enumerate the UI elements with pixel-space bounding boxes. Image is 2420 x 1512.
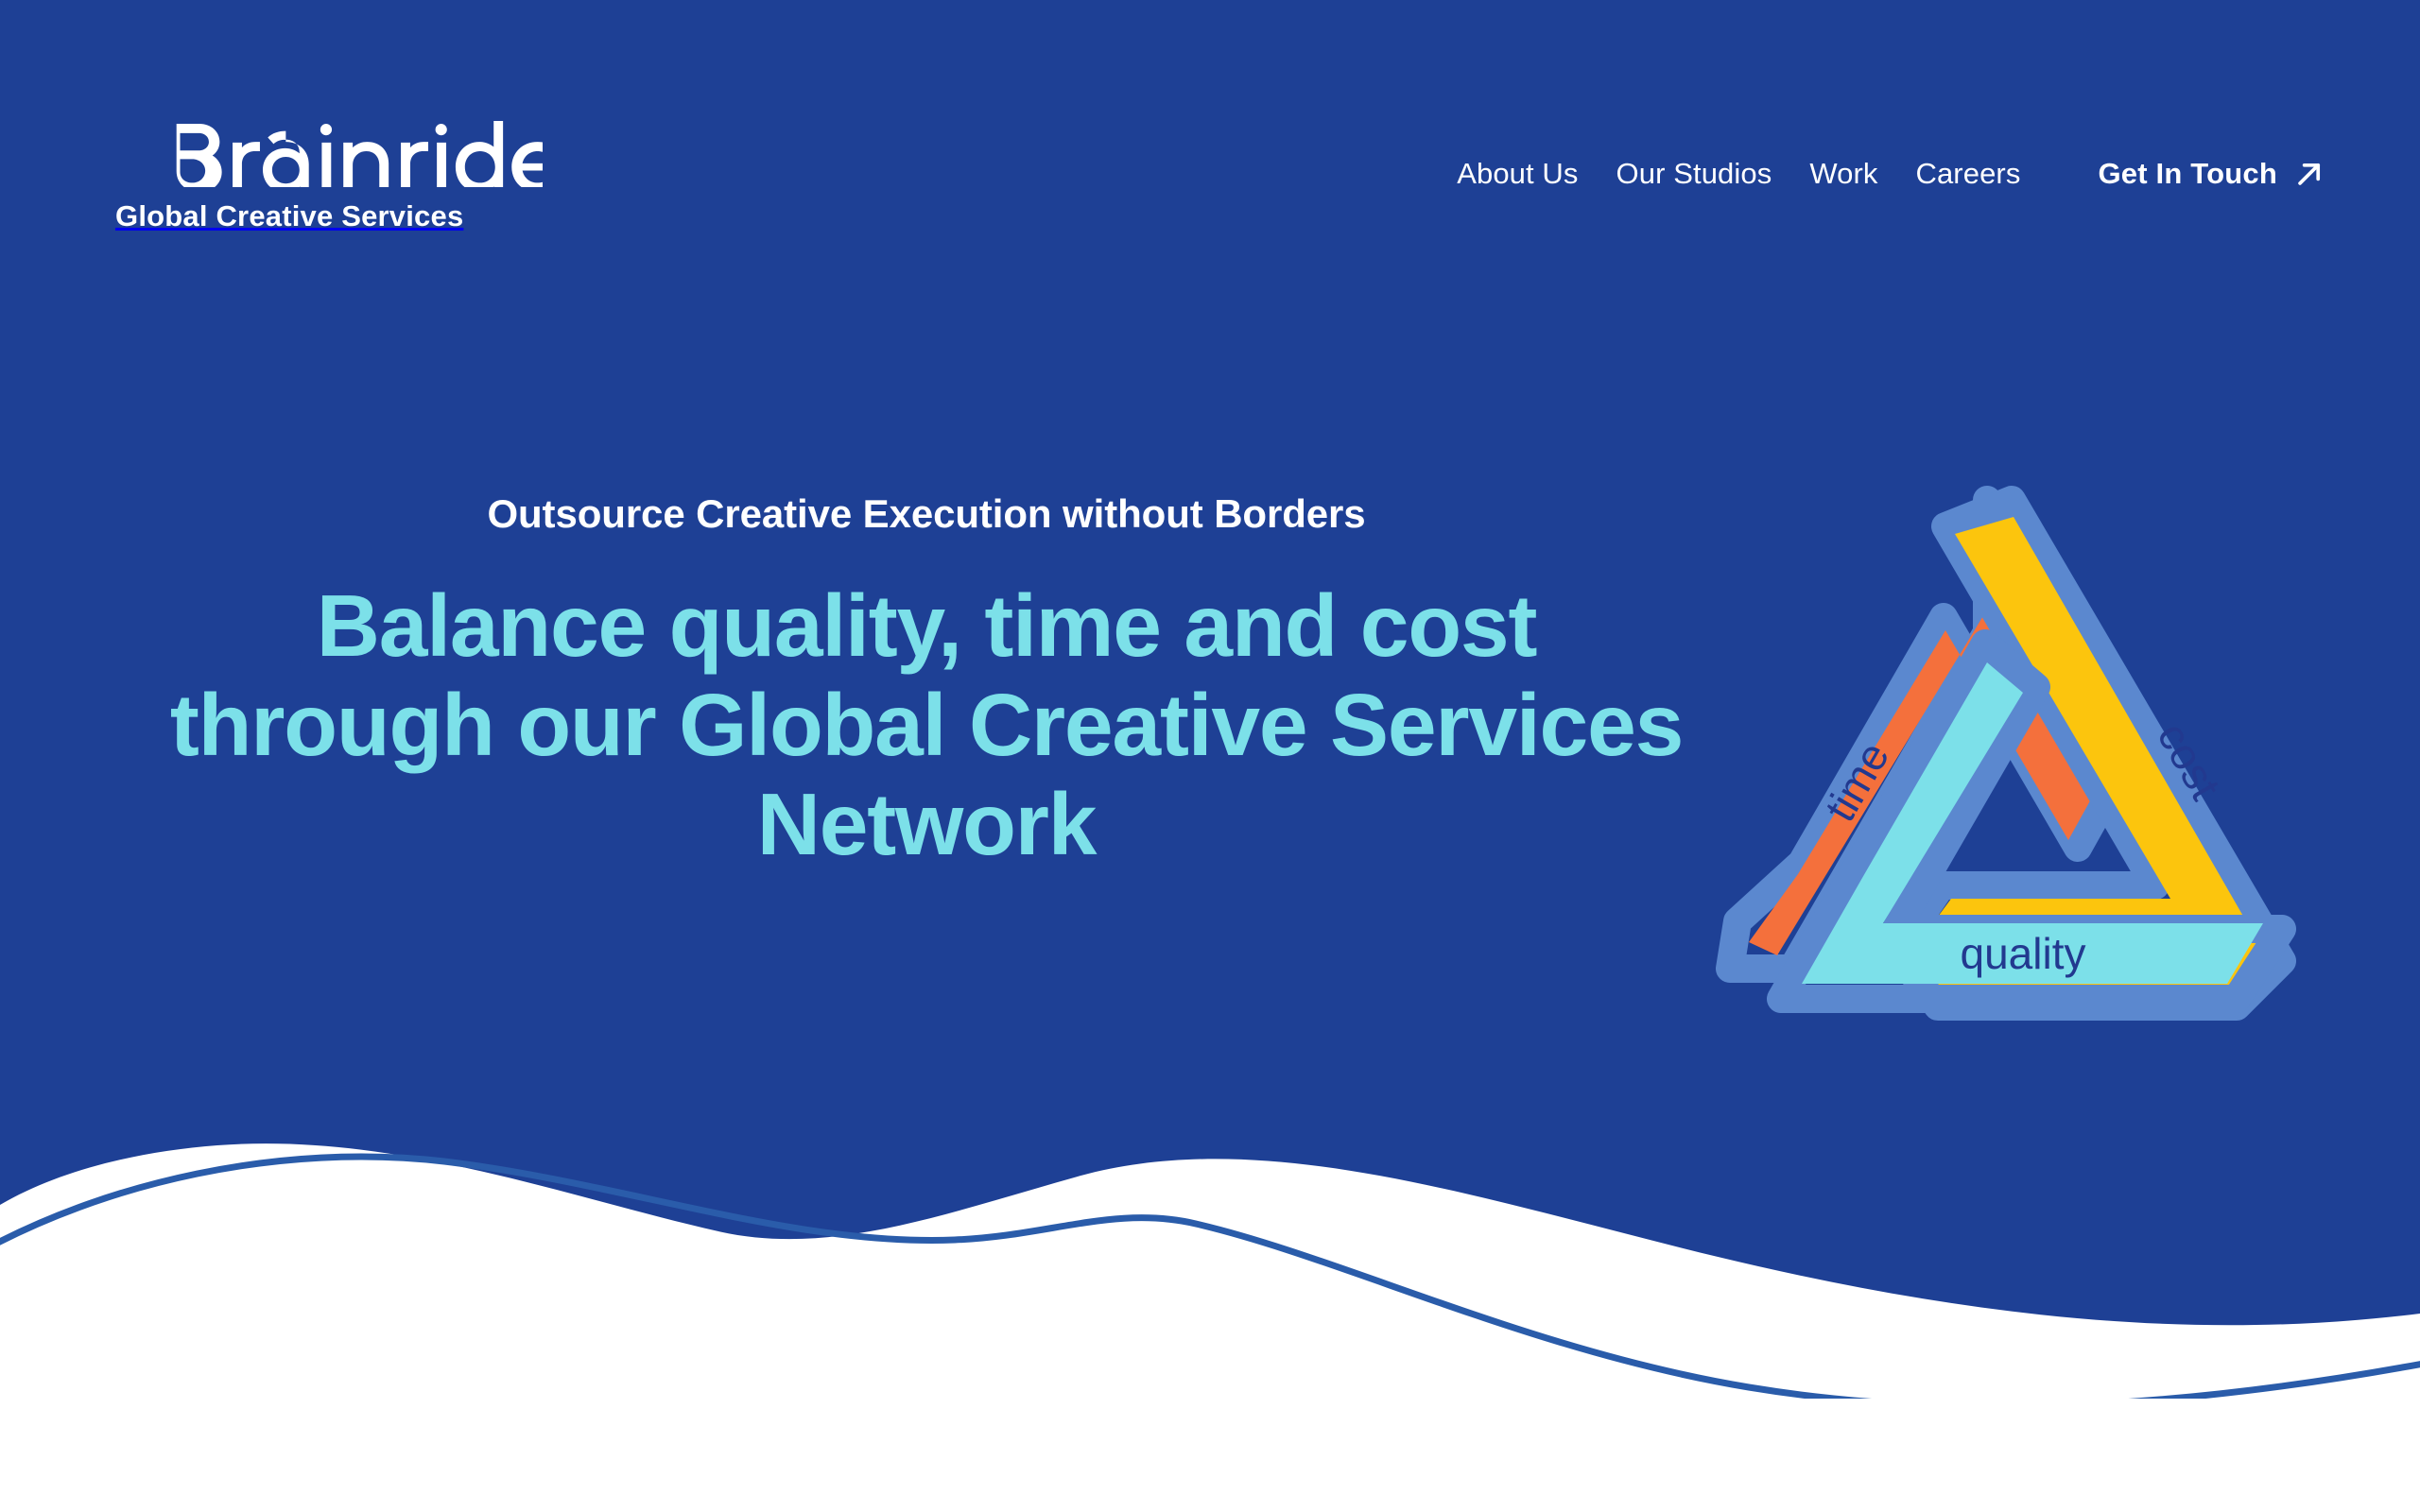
nav-item-careers[interactable]: Careers xyxy=(1896,149,2039,198)
hero-headline: Balance quality, time and cost through o… xyxy=(161,576,1692,874)
get-in-touch-label: Get In Touch xyxy=(2098,157,2277,191)
brand-tagline: Global Creative Services xyxy=(115,201,463,231)
page-root: Global Creative Services About Us Our St… xyxy=(0,0,2420,1512)
brainrider-wordmark-icon xyxy=(115,121,543,187)
penrose-triangle-graphic: time cost quality xyxy=(1711,477,2316,1025)
triangle-label-quality: quality xyxy=(1961,929,2086,978)
nav-list: About Us Our Studios Work Careers xyxy=(1438,149,2039,198)
site-header: Global Creative Services About Us Our St… xyxy=(0,0,2420,312)
brand-logo[interactable]: Global Creative Services xyxy=(115,121,543,231)
get-in-touch-button[interactable]: Get In Touch xyxy=(2094,149,2329,198)
hero-copy: Outsource Creative Execution without Bor… xyxy=(161,491,1692,875)
nav-item-work[interactable]: Work xyxy=(1790,149,1896,198)
nav-item-our-studios[interactable]: Our Studios xyxy=(1598,149,1791,198)
main-navigation: About Us Our Studios Work Careers Get In… xyxy=(1438,149,2329,198)
nav-item-about-us[interactable]: About Us xyxy=(1438,149,1597,198)
arrow-up-right-icon xyxy=(2293,158,2325,190)
hero-eyebrow: Outsource Creative Execution without Bor… xyxy=(161,491,1692,537)
